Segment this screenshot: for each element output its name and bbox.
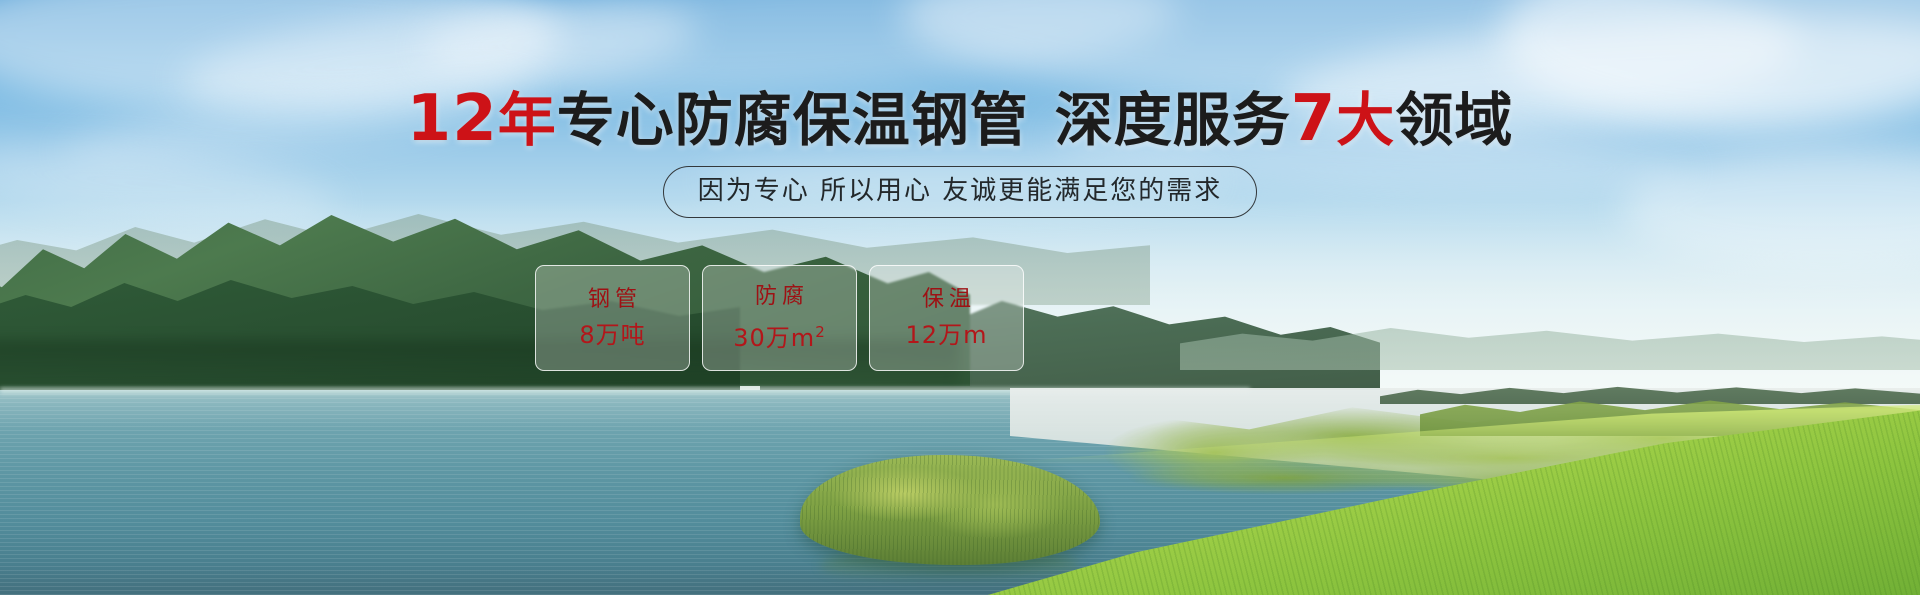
stat-value: 30万m2	[733, 319, 825, 351]
stat-card-steel-pipe: 钢管 8万吨	[535, 265, 690, 371]
stat-card-anticorrosion: 防腐 30万m2	[702, 265, 857, 371]
promo-banner: 12年专心防腐保温钢管深度服务7大领域 因为专心 所以用心 友诚更能满足您的需求…	[0, 0, 1920, 595]
headline-segment-1: 专心防腐保温钢管	[557, 86, 1029, 154]
stats-card-group: 钢管 8万吨 防腐 30万m2 保温 12万m	[535, 265, 1024, 371]
subtitle-pill: 因为专心 所以用心 友诚更能满足您的需求	[663, 166, 1258, 218]
headline-segment-3: 领域	[1395, 86, 1513, 154]
stat-value: 8万吨	[579, 322, 645, 348]
stat-value-text: 8万吨	[579, 321, 645, 349]
stat-card-insulation: 保温 12万m	[869, 265, 1024, 371]
stat-label: 钢管	[583, 288, 642, 312]
stat-value-text: 12万m	[906, 321, 988, 349]
stat-value: 12万m	[906, 322, 988, 348]
subtitle-container: 因为专心 所以用心 友诚更能满足您的需求	[0, 166, 1920, 218]
headline-years-unit: 年	[498, 86, 557, 154]
stat-label: 保温	[917, 288, 976, 312]
banner-content: 12年专心防腐保温钢管深度服务7大领域 因为专心 所以用心 友诚更能满足您的需求…	[0, 0, 1920, 595]
headline-fields-unit: 大	[1336, 86, 1395, 154]
headline: 12年专心防腐保温钢管深度服务7大领域	[0, 88, 1920, 151]
headline-segment-2: 深度服务	[1055, 86, 1291, 154]
stat-value-superscript: 2	[815, 323, 826, 341]
stat-label: 防腐	[750, 285, 809, 309]
headline-years-number: 12	[407, 82, 498, 156]
headline-fields-number: 7	[1291, 82, 1337, 156]
stat-value-text: 30万m	[733, 324, 815, 352]
